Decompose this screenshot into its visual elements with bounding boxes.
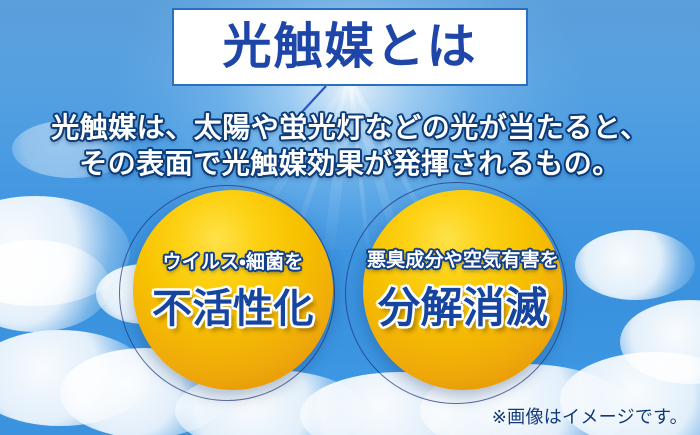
promo-banner: 光触媒とは 光触媒は、太陽や蛍光灯などの光が当たると、 その表面で光触媒効果が発… [0, 0, 700, 435]
lead-line-2: その表面で光触媒効果が発揮されるもの。 [0, 146, 700, 182]
benefit-headline: 分解消滅 [378, 274, 548, 335]
cloud-shape [0, 330, 150, 426]
image-disclaimer-note: ※画像はイメージです。 [492, 403, 688, 429]
lead-paragraph: 光触媒は、太陽や蛍光灯などの光が当たると、 その表面で光触媒効果が発揮されるもの… [0, 110, 700, 182]
cloud-shape [0, 196, 130, 306]
benefit-text-group: 悪臭成分や空気有害を 分解消滅 [363, 190, 563, 390]
benefit-text-group: ウイルス・細菌を 不活性化 [133, 190, 333, 390]
cloud-shape [575, 230, 695, 300]
lead-line-1: 光触媒は、太陽や蛍光灯などの光が当たると、 [0, 110, 700, 146]
benefit-circle-inactivation: ウイルス・細菌を 不活性化 [133, 190, 333, 390]
cloud-shape [0, 240, 110, 332]
benefit-headline: 不活性化 [152, 276, 314, 334]
benefit-circle-decomposition: 悪臭成分や空気有害を 分解消滅 [363, 190, 563, 390]
cloud-shape [620, 300, 700, 384]
page-title: 光触媒とは [222, 23, 477, 72]
benefit-subtitle: ウイルス・細菌を [162, 247, 303, 274]
title-speech-bubble: 光触媒とは [172, 8, 528, 86]
benefit-subtitle: 悪臭成分や空気有害を [367, 245, 559, 272]
